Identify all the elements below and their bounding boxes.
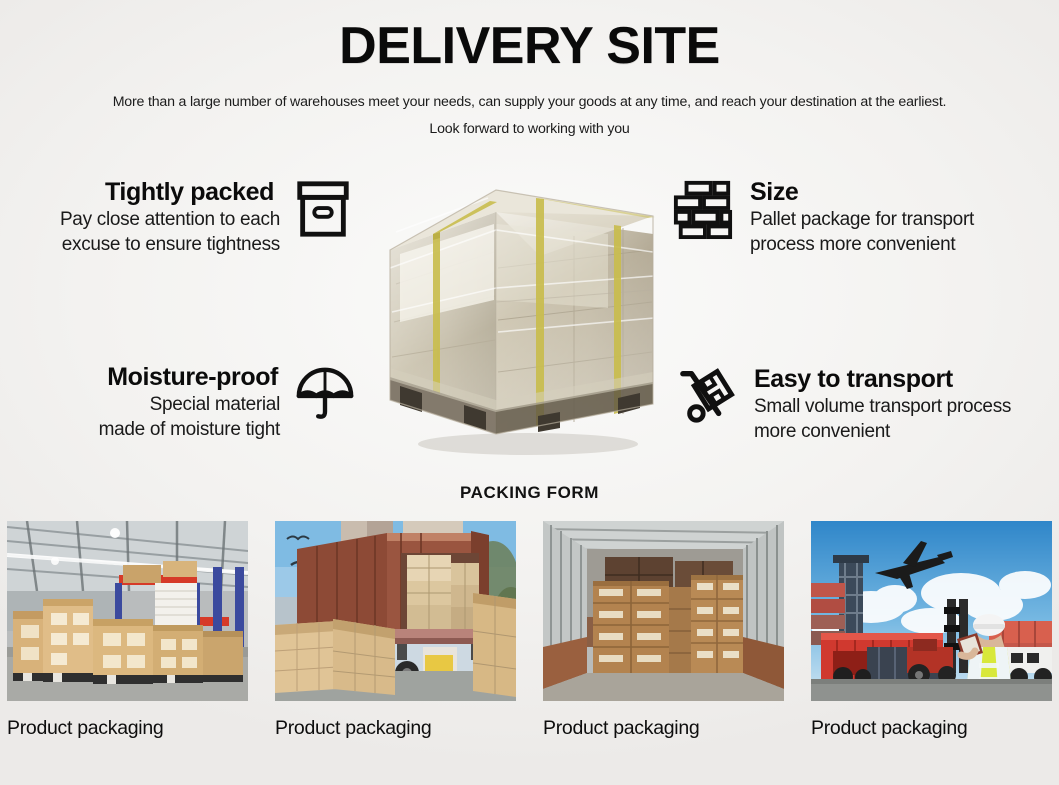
gallery-caption: Product packaging: [543, 717, 784, 740]
feature-text: Easy to transport Small volume transport…: [754, 365, 1011, 443]
feature-title: Size: [750, 178, 974, 206]
header: DELIVERY SITE More than a large number o…: [0, 0, 1059, 137]
feature-desc-line-2: process more convenient: [750, 233, 974, 256]
packing-form-heading: PACKING FORM: [0, 483, 1059, 503]
umbrella-icon: [294, 363, 356, 425]
feature-desc-line-1: Small volume transport process: [754, 395, 1011, 418]
feature-title: Tightly packed: [0, 178, 274, 206]
gallery-card[interactable]: Product packaging: [543, 521, 784, 771]
gallery-caption: Product packaging: [811, 717, 1052, 740]
feature-text: Size Pallet package for transport proces…: [750, 178, 974, 256]
feature-desc-line-1: Special material: [40, 393, 280, 416]
feature-title: Easy to transport: [754, 365, 1011, 393]
feature-easy-to-transport: Easy to transport Small volume transport…: [678, 365, 1058, 443]
feature-size: Size Pallet package for transport proces…: [672, 178, 1052, 256]
container-interior-photo: [543, 521, 784, 701]
feature-title: Moisture-proof: [40, 363, 278, 391]
hand-truck-icon: [678, 365, 740, 427]
feature-tightly-packed: Tightly packed Pay close attention to ea…: [0, 178, 360, 256]
gallery-card[interactable]: Product packaging: [811, 521, 1052, 771]
feature-desc-line-2: excuse to ensure tightness: [0, 233, 280, 256]
page-title: DELIVERY SITE: [0, 16, 1059, 76]
feature-moisture-proof: Moisture-proof Special material made of …: [40, 363, 360, 441]
brick-wall-icon: [672, 178, 734, 240]
subtitle-line-1: More than a large number of warehouses m…: [0, 94, 1059, 110]
gallery-card[interactable]: Product packaging: [275, 521, 516, 771]
feature-text: Moisture-proof Special material made of …: [40, 363, 280, 441]
feature-desc-line-2: more convenient: [754, 420, 1011, 443]
feature-desc-line-1: Pay close attention to each: [0, 208, 280, 231]
packing-form-gallery: Product packaging: [7, 521, 1052, 771]
archive-box-icon: [292, 178, 354, 240]
gallery-caption: Product packaging: [7, 717, 248, 740]
feature-text: Tightly packed Pay close attention to ea…: [0, 178, 280, 256]
warehouse-pallets-photo: [7, 521, 248, 701]
container-loading-photo: [275, 521, 516, 701]
wrapped-pallet-image: [378, 172, 670, 468]
feature-desc-line-1: Pallet package for transport: [750, 208, 974, 231]
delivery-site-page: DELIVERY SITE More than a large number o…: [0, 0, 1059, 785]
gallery-caption: Product packaging: [275, 717, 516, 740]
subtitle-line-2: Look forward to working with you: [0, 121, 1059, 137]
port-logistics-photo: [811, 521, 1052, 701]
gallery-card[interactable]: Product packaging: [7, 521, 248, 771]
feature-desc-line-2: made of moisture tight: [40, 418, 280, 441]
